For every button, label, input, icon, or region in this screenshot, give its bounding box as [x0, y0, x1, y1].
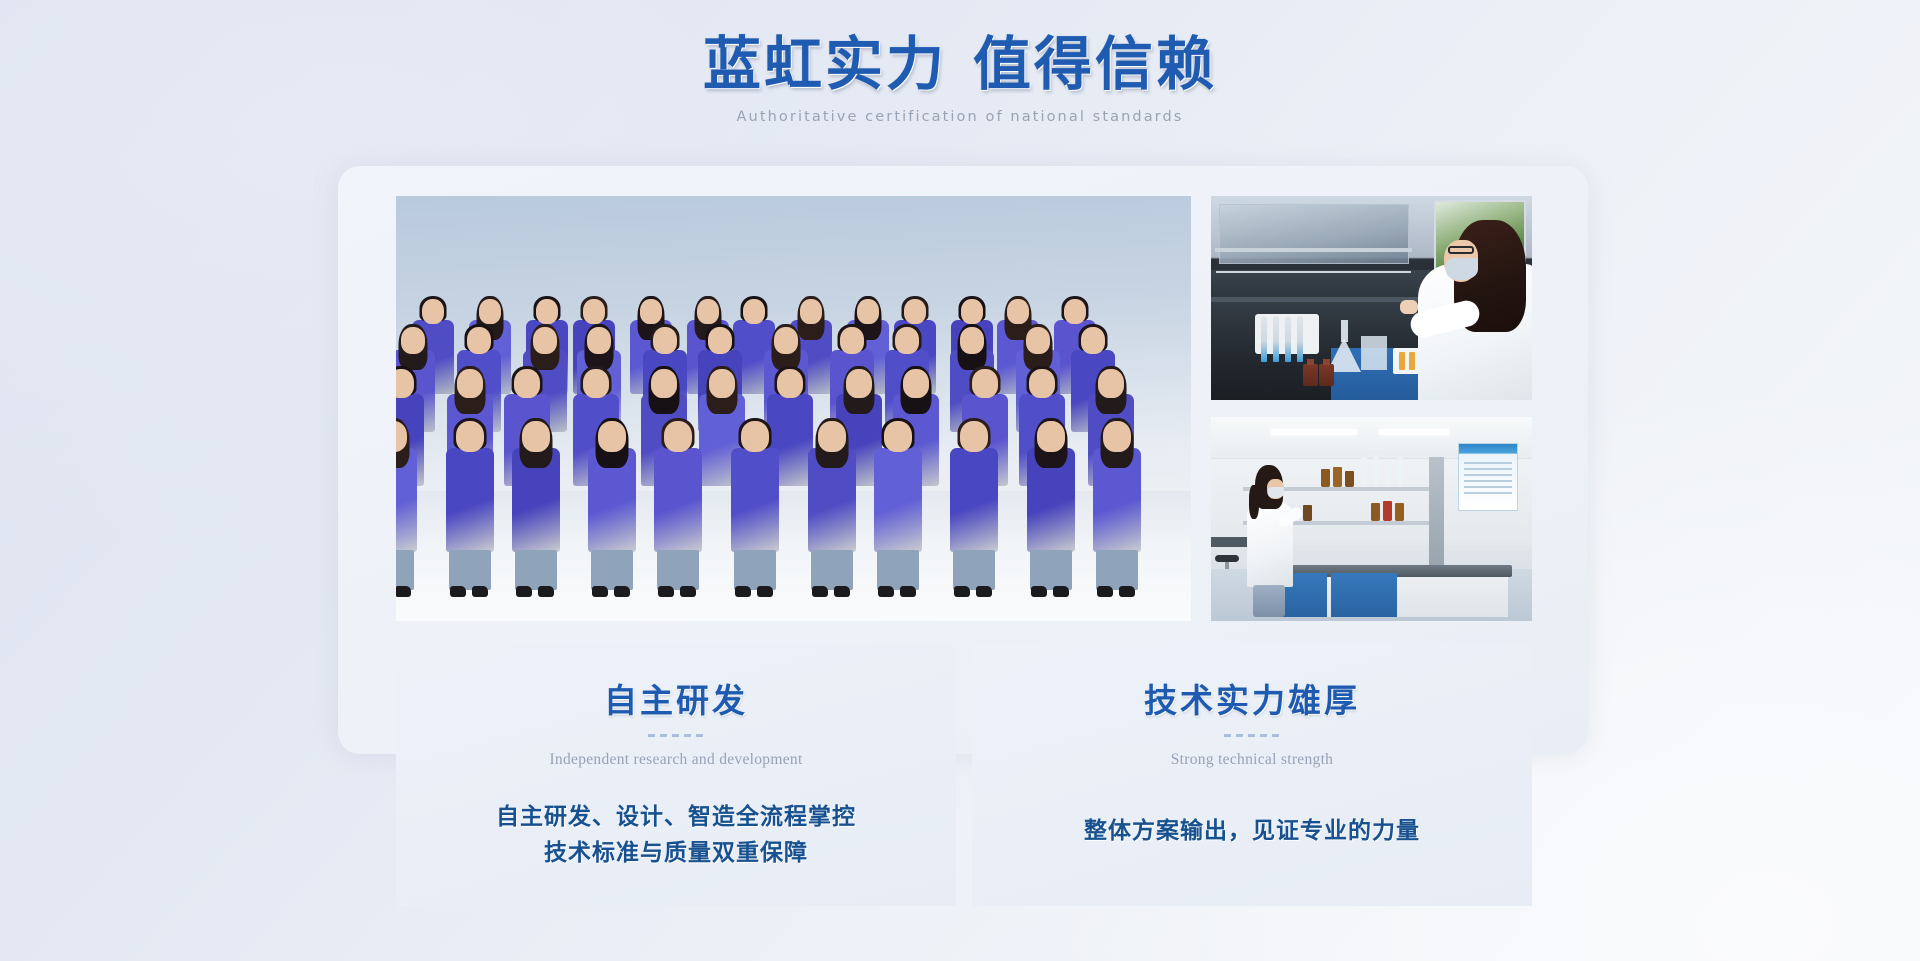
member-shoe	[976, 586, 992, 597]
lab1-reagent-bottle-2	[1319, 364, 1334, 386]
member-head	[533, 327, 557, 354]
feature-card-rd-title: 自主研发	[396, 674, 956, 722]
team-member	[872, 418, 924, 590]
lab-photo-pipetting[interactable]	[1211, 196, 1532, 400]
member-legs	[1096, 550, 1138, 590]
lab1-window-left	[1219, 204, 1409, 264]
member-head	[457, 369, 483, 398]
lab1-beaker	[1361, 336, 1387, 370]
feature-card-rd-body-line1: 自主研发、设计、智造全流程掌控	[496, 804, 856, 829]
member-legs	[877, 550, 919, 590]
member-head	[697, 299, 719, 324]
member-shoe	[450, 586, 466, 597]
team-member	[806, 418, 858, 590]
member-head	[903, 369, 929, 398]
lab2-bottle-5	[1383, 501, 1392, 521]
team-photo[interactable]	[396, 196, 1191, 621]
member-head	[857, 299, 879, 324]
member-head	[583, 299, 605, 324]
lab2-ceiling-light-2	[1379, 429, 1449, 435]
member-head	[1026, 327, 1050, 354]
page-title: 蓝虹实力值得信赖	[0, 31, 1920, 99]
member-head	[1081, 327, 1105, 354]
member-head	[960, 421, 988, 452]
lab2-cabinet-blue-2	[1331, 573, 1397, 617]
member-head	[598, 421, 626, 452]
feature-card-tech[interactable]: 技术实力雄厚 Strong technical strength 整体方案输出，…	[972, 643, 1532, 906]
lab2-glassware-3	[1385, 459, 1391, 487]
lab1-pipette-1	[1261, 316, 1267, 362]
lab2-glassware-1	[1361, 457, 1367, 487]
member-head	[651, 369, 677, 398]
content-panel: 自主研发 Independent research and developmen…	[338, 166, 1588, 754]
lab-scene-2	[1211, 417, 1532, 621]
member-head	[708, 327, 732, 354]
member-legs	[953, 550, 995, 590]
lab2-bottle-4	[1371, 503, 1380, 521]
member-head	[1064, 299, 1086, 324]
member-head	[522, 421, 550, 452]
member-head	[743, 299, 765, 324]
media-gallery	[396, 196, 1532, 621]
feature-card-rd-english: Independent research and development	[396, 751, 956, 769]
member-legs	[396, 550, 414, 590]
team-member	[444, 418, 496, 590]
member-head	[818, 421, 846, 452]
member-head	[1037, 421, 1065, 452]
lab2-bottle-6	[1395, 503, 1404, 521]
member-shoe	[472, 586, 488, 597]
member-legs	[734, 550, 776, 590]
member-shoe	[1053, 586, 1069, 597]
lab1-pipette-2	[1273, 316, 1279, 362]
lab1-technician	[1412, 214, 1532, 400]
member-head	[664, 421, 692, 452]
team-member	[948, 418, 1000, 590]
member-head	[467, 327, 491, 354]
feature-card-rd-body: 自主研发、设计、智造全流程掌控 技术标准与质量双重保障	[396, 799, 956, 870]
team-member	[1091, 418, 1143, 590]
member-head	[1007, 299, 1029, 324]
member-head	[972, 369, 998, 398]
member-head	[884, 421, 912, 452]
member-shoe	[658, 586, 674, 597]
page-header: 蓝虹实力值得信赖 Authoritative certification of …	[0, 0, 1920, 125]
member-head	[653, 327, 677, 354]
member-head	[895, 327, 919, 354]
lab2-hood-column	[1429, 457, 1444, 569]
lab2-safety-poster	[1458, 443, 1518, 511]
member-shoe	[614, 586, 630, 597]
member-head	[422, 299, 444, 324]
feature-card-tech-english: Strong technical strength	[972, 751, 1532, 769]
member-uniform	[654, 448, 702, 552]
member-head	[709, 369, 735, 398]
dashed-divider-icon	[648, 734, 704, 737]
lab2-bottle-3	[1345, 471, 1354, 487]
team-member	[586, 418, 638, 590]
member-uniform	[874, 448, 922, 552]
member-head	[777, 369, 803, 398]
lab1-reagent-bottle-1	[1303, 364, 1318, 386]
member-legs	[657, 550, 699, 590]
team-member	[652, 418, 704, 590]
member-shoe	[834, 586, 850, 597]
team-member	[1025, 418, 1077, 590]
page-title-part1: 蓝虹实力	[703, 32, 947, 97]
member-head	[479, 299, 501, 324]
member-head	[1103, 421, 1131, 452]
lab-photo-room[interactable]	[1211, 417, 1532, 621]
member-head	[846, 369, 872, 398]
team-member	[729, 418, 781, 590]
feature-card-tech-body-line1: 整体方案输出，见证专业的力量	[1084, 818, 1420, 843]
lab2-ceiling-light-1	[1271, 429, 1357, 435]
member-shoe	[516, 586, 532, 597]
member-shoe	[812, 586, 828, 597]
member-legs	[449, 550, 491, 590]
member-shoe	[1119, 586, 1135, 597]
member-shoe	[538, 586, 554, 597]
page-title-part2: 值得信赖	[973, 32, 1217, 97]
member-head	[587, 327, 611, 354]
feature-cards: 自主研发 Independent research and developmen…	[396, 643, 1532, 906]
member-head	[741, 421, 769, 452]
member-head	[960, 327, 984, 354]
feature-card-tech-body: 整体方案输出，见证专业的力量	[972, 813, 1532, 849]
member-shoe	[1097, 586, 1113, 597]
lab1-pipette-4	[1297, 316, 1303, 362]
member-head	[1098, 369, 1124, 398]
member-head	[536, 299, 558, 324]
lab2-glassware-4	[1397, 457, 1403, 487]
member-shoe	[735, 586, 751, 597]
member-legs	[1030, 550, 1072, 590]
member-uniform	[446, 448, 494, 552]
member-head	[1029, 369, 1055, 398]
member-legs	[515, 550, 557, 590]
lab2-bottle-1	[1321, 469, 1330, 487]
team-crowd	[396, 196, 1191, 621]
dashed-divider-icon	[1224, 734, 1280, 737]
member-head	[904, 299, 926, 324]
member-legs	[811, 550, 853, 590]
lab2-glassware-2	[1373, 455, 1379, 487]
lab1-shelf-rail	[1215, 248, 1412, 252]
member-shoe	[757, 586, 773, 597]
member-uniform	[950, 448, 998, 552]
member-head	[840, 327, 864, 354]
member-shoe	[900, 586, 916, 597]
feature-card-tech-title: 技术实力雄厚	[972, 674, 1532, 722]
member-head	[800, 299, 822, 324]
member-head	[401, 327, 425, 354]
team-member	[510, 418, 562, 590]
lab2-technician	[1247, 465, 1293, 617]
member-head	[640, 299, 662, 324]
member-head	[961, 299, 983, 324]
feature-card-rd-body-line2: 技术标准与质量双重保障	[396, 835, 956, 871]
member-head	[774, 327, 798, 354]
member-head	[583, 369, 609, 398]
member-head	[396, 369, 414, 398]
member-uniform	[731, 448, 779, 552]
lab2-bottle-7	[1303, 505, 1312, 521]
member-shoe	[680, 586, 696, 597]
member-head	[514, 369, 540, 398]
member-shoe	[954, 586, 970, 597]
lab2-bottle-2	[1333, 467, 1342, 487]
member-shoe	[396, 586, 411, 597]
member-head	[456, 421, 484, 452]
feature-card-rd[interactable]: 自主研发 Independent research and developmen…	[396, 643, 956, 906]
member-legs	[591, 550, 633, 590]
lab1-pipette-3	[1285, 316, 1291, 362]
lab-scene-1	[1211, 196, 1532, 400]
member-shoe	[878, 586, 894, 597]
team-member	[396, 418, 419, 590]
member-shoe	[592, 586, 608, 597]
page-subtitle: Authoritative certification of national …	[0, 109, 1920, 125]
member-shoe	[1031, 586, 1047, 597]
